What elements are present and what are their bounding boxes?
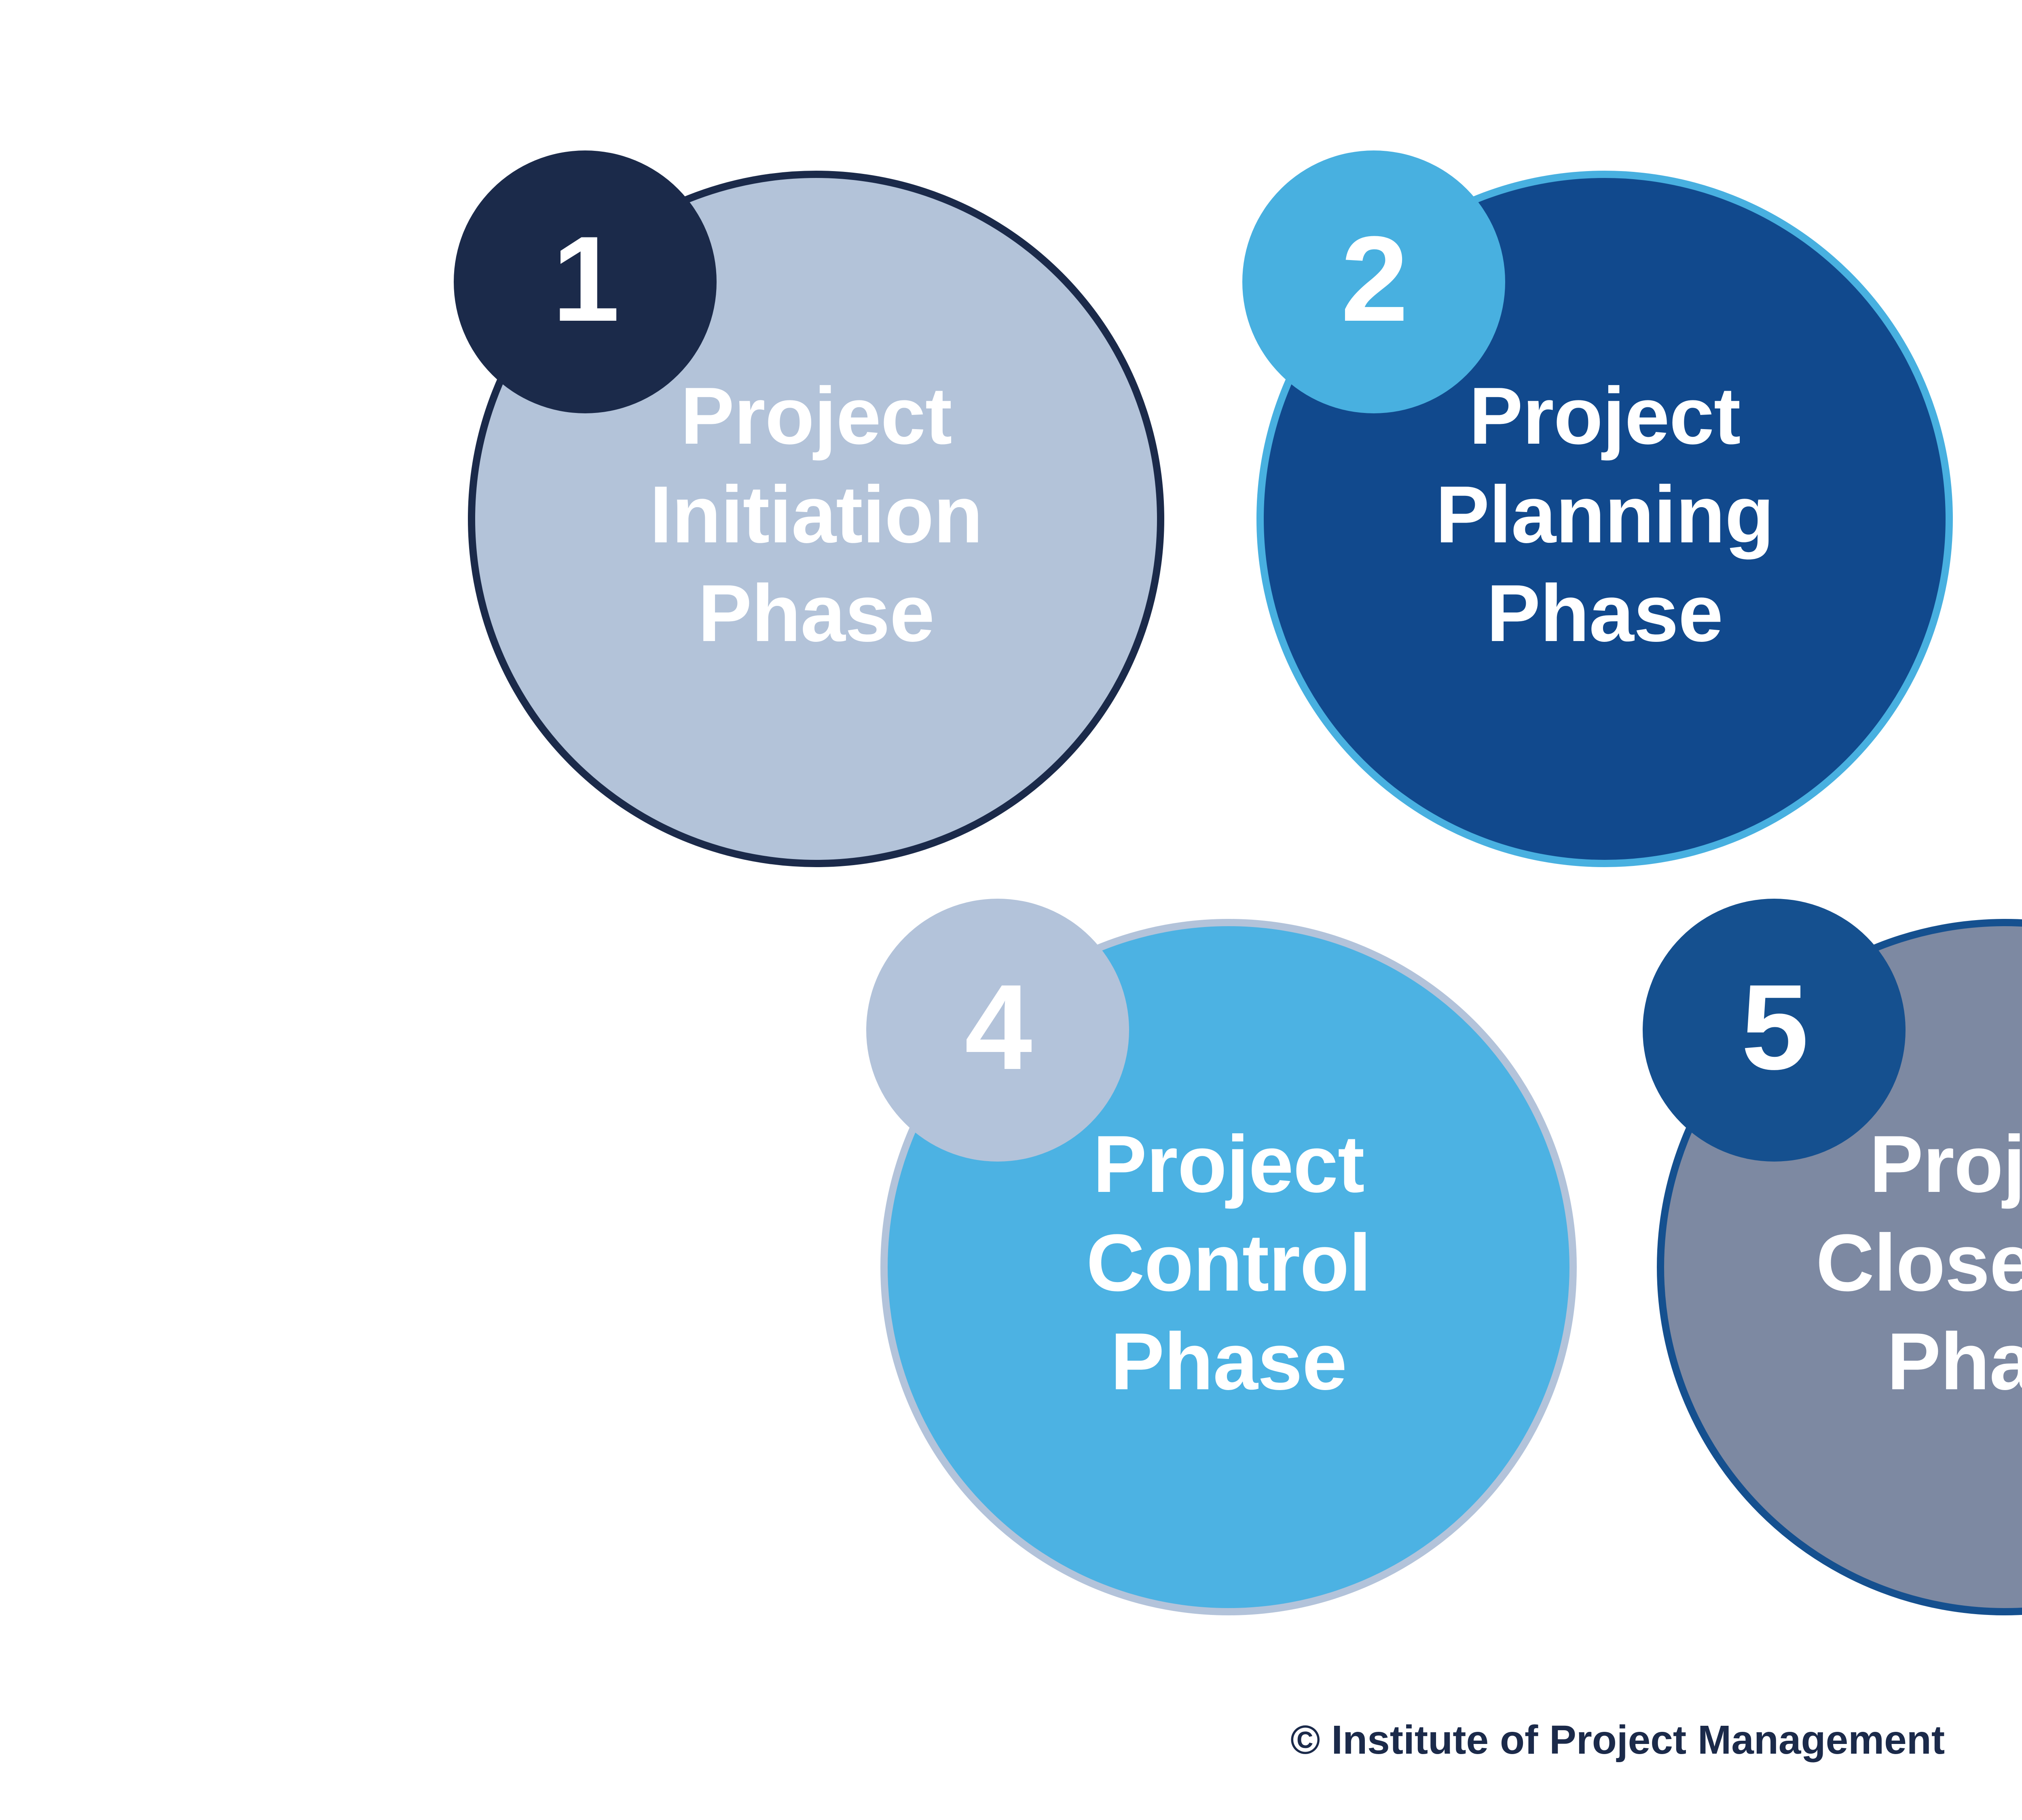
phase-badge-5[interactable]: 5 [1643, 899, 1906, 1162]
phase-badge-4[interactable]: 4 [866, 899, 1129, 1162]
phase-label-2: Project Planning Phase [1419, 367, 1790, 663]
phase-number-4: 4 [965, 966, 1031, 1088]
phase-number-1: 1 [552, 218, 618, 339]
phase-label-1: Project Initiation Phase [633, 367, 998, 663]
phase-label-5: Project Close Out Phase [1800, 1115, 2022, 1411]
phase-badge-1[interactable]: 1 [454, 150, 717, 413]
footer: © Institute of Project Management [0, 1717, 2022, 1763]
phase-badge-2[interactable]: 2 [1242, 150, 1505, 413]
phase-number-2: 2 [1341, 218, 1407, 339]
phase-label-4: Project Control Phase [1070, 1115, 1387, 1411]
diagram-canvas: Project Initiation Phase1Project Plannin… [0, 0, 2022, 1820]
copyright-text: © Institute of Project Management [1290, 1717, 1945, 1763]
phase-number-5: 5 [1741, 966, 1807, 1088]
